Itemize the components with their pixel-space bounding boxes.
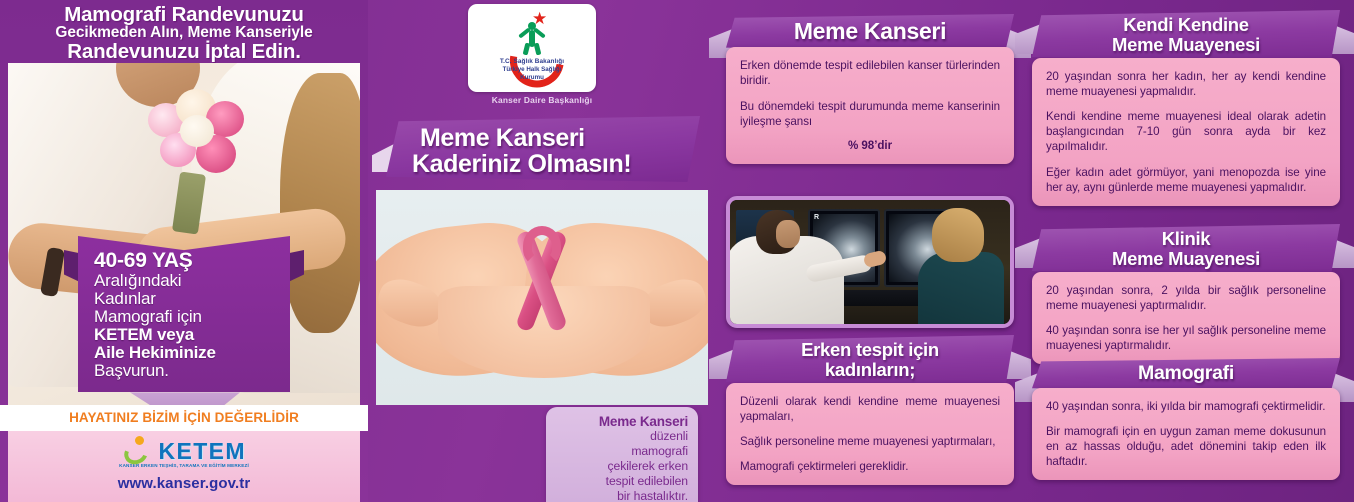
ministry-crest-icon: ★	[468, 8, 596, 56]
survival-rate-highlight: % 98’dir	[740, 138, 1000, 153]
center-title-line-2: Kaderiniz Olmasın!	[412, 150, 631, 179]
card-title-line-1: Klinik	[1044, 229, 1328, 249]
note-line-2: mamografi	[556, 444, 688, 459]
note-line-3: çekilerek erken	[556, 459, 688, 474]
left-panel: Mamografi Randevunuzu Gecikmeden Alın, M…	[0, 0, 368, 502]
card-mamografi: Mamografi 40 yaşından sonra, iki yılda b…	[1032, 358, 1340, 480]
doctor-patient-photo: R L	[726, 196, 1014, 328]
website-url[interactable]: www.kanser.gov.tr	[8, 475, 360, 492]
note-line-4: tespit edilebilen	[556, 474, 688, 489]
card-title-line-2: Meme Muayenesi	[1044, 35, 1328, 55]
slogan-text: HAYATINIZ BİZİM İÇİN DEĞERLİDİR	[0, 405, 368, 431]
age-range-banner: 40-69 YAŞ Aralığındaki Kadınlar Mamograf…	[78, 236, 290, 392]
card-paragraph: Bir mamografi için en uygun zaman meme d…	[1046, 424, 1326, 469]
card-paragraph: 20 yaşından sonra, 2 yılda bir sağlık pe…	[1046, 283, 1326, 313]
banner-line-3: Kadınlar	[94, 290, 278, 308]
card-paragraph: Kendi kendine meme muayenesi ideal olara…	[1046, 109, 1326, 154]
card-title-line-2: kadınların;	[738, 360, 1002, 380]
card-paragraph: Mamografi çektirmeleri gereklidir.	[740, 459, 1000, 474]
headline-line-2: Gecikmeden Alın, Meme Kanseriyle	[0, 25, 368, 41]
card-paragraph: Eğer kadın adet görmüyor, yani menopozda…	[1046, 165, 1326, 195]
banner-line-7: Başvurun.	[94, 362, 278, 380]
card-kendi-kendine-meme-muayenesi: Kendi Kendine Meme Muayenesi 20 yaşından…	[1032, 10, 1340, 206]
card-title-line-1: Kendi Kendine	[1044, 15, 1328, 35]
headline-line-1: Mamografi Randevunuzu	[0, 4, 368, 25]
ketem-figure-icon	[122, 435, 152, 465]
ministry-line-2: Türkiye Halk Sağlığı Kurumu	[468, 66, 596, 82]
card-paragraph: Sağlık personeline meme muayenesi yaptır…	[740, 434, 1000, 449]
ministry-caption: Kanser Daire Başkanlığı	[368, 95, 716, 105]
bouquet-icon	[140, 85, 258, 191]
card-paragraph: 40 yaşından sonra ise her yıl sağlık per…	[1046, 323, 1326, 353]
card-paragraph: 20 yaşından sonra her kadın, her ay kend…	[1046, 69, 1326, 99]
card-title-line-2: Meme Muayenesi	[1044, 249, 1328, 269]
note-line-5: bir hastalıktır.	[556, 489, 688, 502]
headline-line-3: Randevunuzu İptal Edin.	[0, 41, 368, 62]
ministry-logo-card: ★ T.C. Sağlık Bakanlığı Türkiye Halk Sağ…	[468, 4, 596, 92]
left-headline: Mamografi Randevunuzu Gecikmeden Alın, M…	[0, 4, 368, 63]
pink-ribbon-icon	[503, 226, 581, 336]
ketem-wordmark: KETEM	[158, 438, 246, 465]
card-meme-kanseri: Meme Kanseri Erken dönemde tespit edileb…	[726, 14, 1014, 164]
card-paragraph: Erken dönemde tespit edilebilen kanser t…	[740, 58, 1000, 88]
card-title: Meme Kanseri	[738, 19, 1002, 43]
ketem-logo: KETEM KANSER ERKEN TEŞHİS, TARAMA VE EĞİ…	[119, 435, 249, 468]
left-footer: KETEM KANSER ERKEN TEŞHİS, TARAMA VE EĞİ…	[8, 431, 360, 502]
banner-line-4: Mamografi için	[94, 308, 278, 326]
poster-root: Mamografi Randevunuzu Gecikmeden Alın, M…	[0, 0, 1354, 502]
banner-line-2: Aralığındaki	[94, 272, 278, 290]
card-paragraph: 40 yaşından sonra, iki yılda bir mamogra…	[1046, 399, 1326, 414]
banner-line-5: KETEM veya	[94, 326, 278, 344]
hands-ribbon-photo	[376, 190, 708, 405]
definition-note-card: Meme Kanseri düzenli mamografi çekilerek…	[546, 407, 698, 502]
xray-label-right: R	[814, 214, 819, 221]
card-paragraph: Bu dönemdeki tespit durumunda meme kanse…	[740, 99, 1000, 129]
card-klinik-meme-muayenesi: Klinik Meme Muayenesi 20 yaşından sonra,…	[1032, 224, 1340, 364]
center-title-line-1: Meme Kanseri	[420, 124, 585, 153]
center-title-ribbon: Meme Kanseri Kaderiniz Olmasın!	[386, 116, 700, 182]
banner-line-6: Aile Hekiminize	[94, 344, 278, 362]
card-erken-tespit: Erken tespit için kadınların; Düzenli ol…	[726, 335, 1014, 485]
note-title: Meme Kanseri	[556, 414, 688, 429]
note-line-1: düzenli	[556, 429, 688, 444]
ministry-line-1: T.C. Sağlık Bakanlığı	[468, 58, 596, 65]
center-panel: ★ T.C. Sağlık Bakanlığı Türkiye Halk Sağ…	[368, 0, 716, 502]
card-title-line-1: Erken tespit için	[738, 340, 1002, 360]
card-title: Mamografi	[1044, 363, 1328, 384]
banner-line-1: 40-69 YAŞ	[94, 250, 278, 272]
card-paragraph: Düzenli olarak kendi kendine meme muayen…	[740, 394, 1000, 424]
